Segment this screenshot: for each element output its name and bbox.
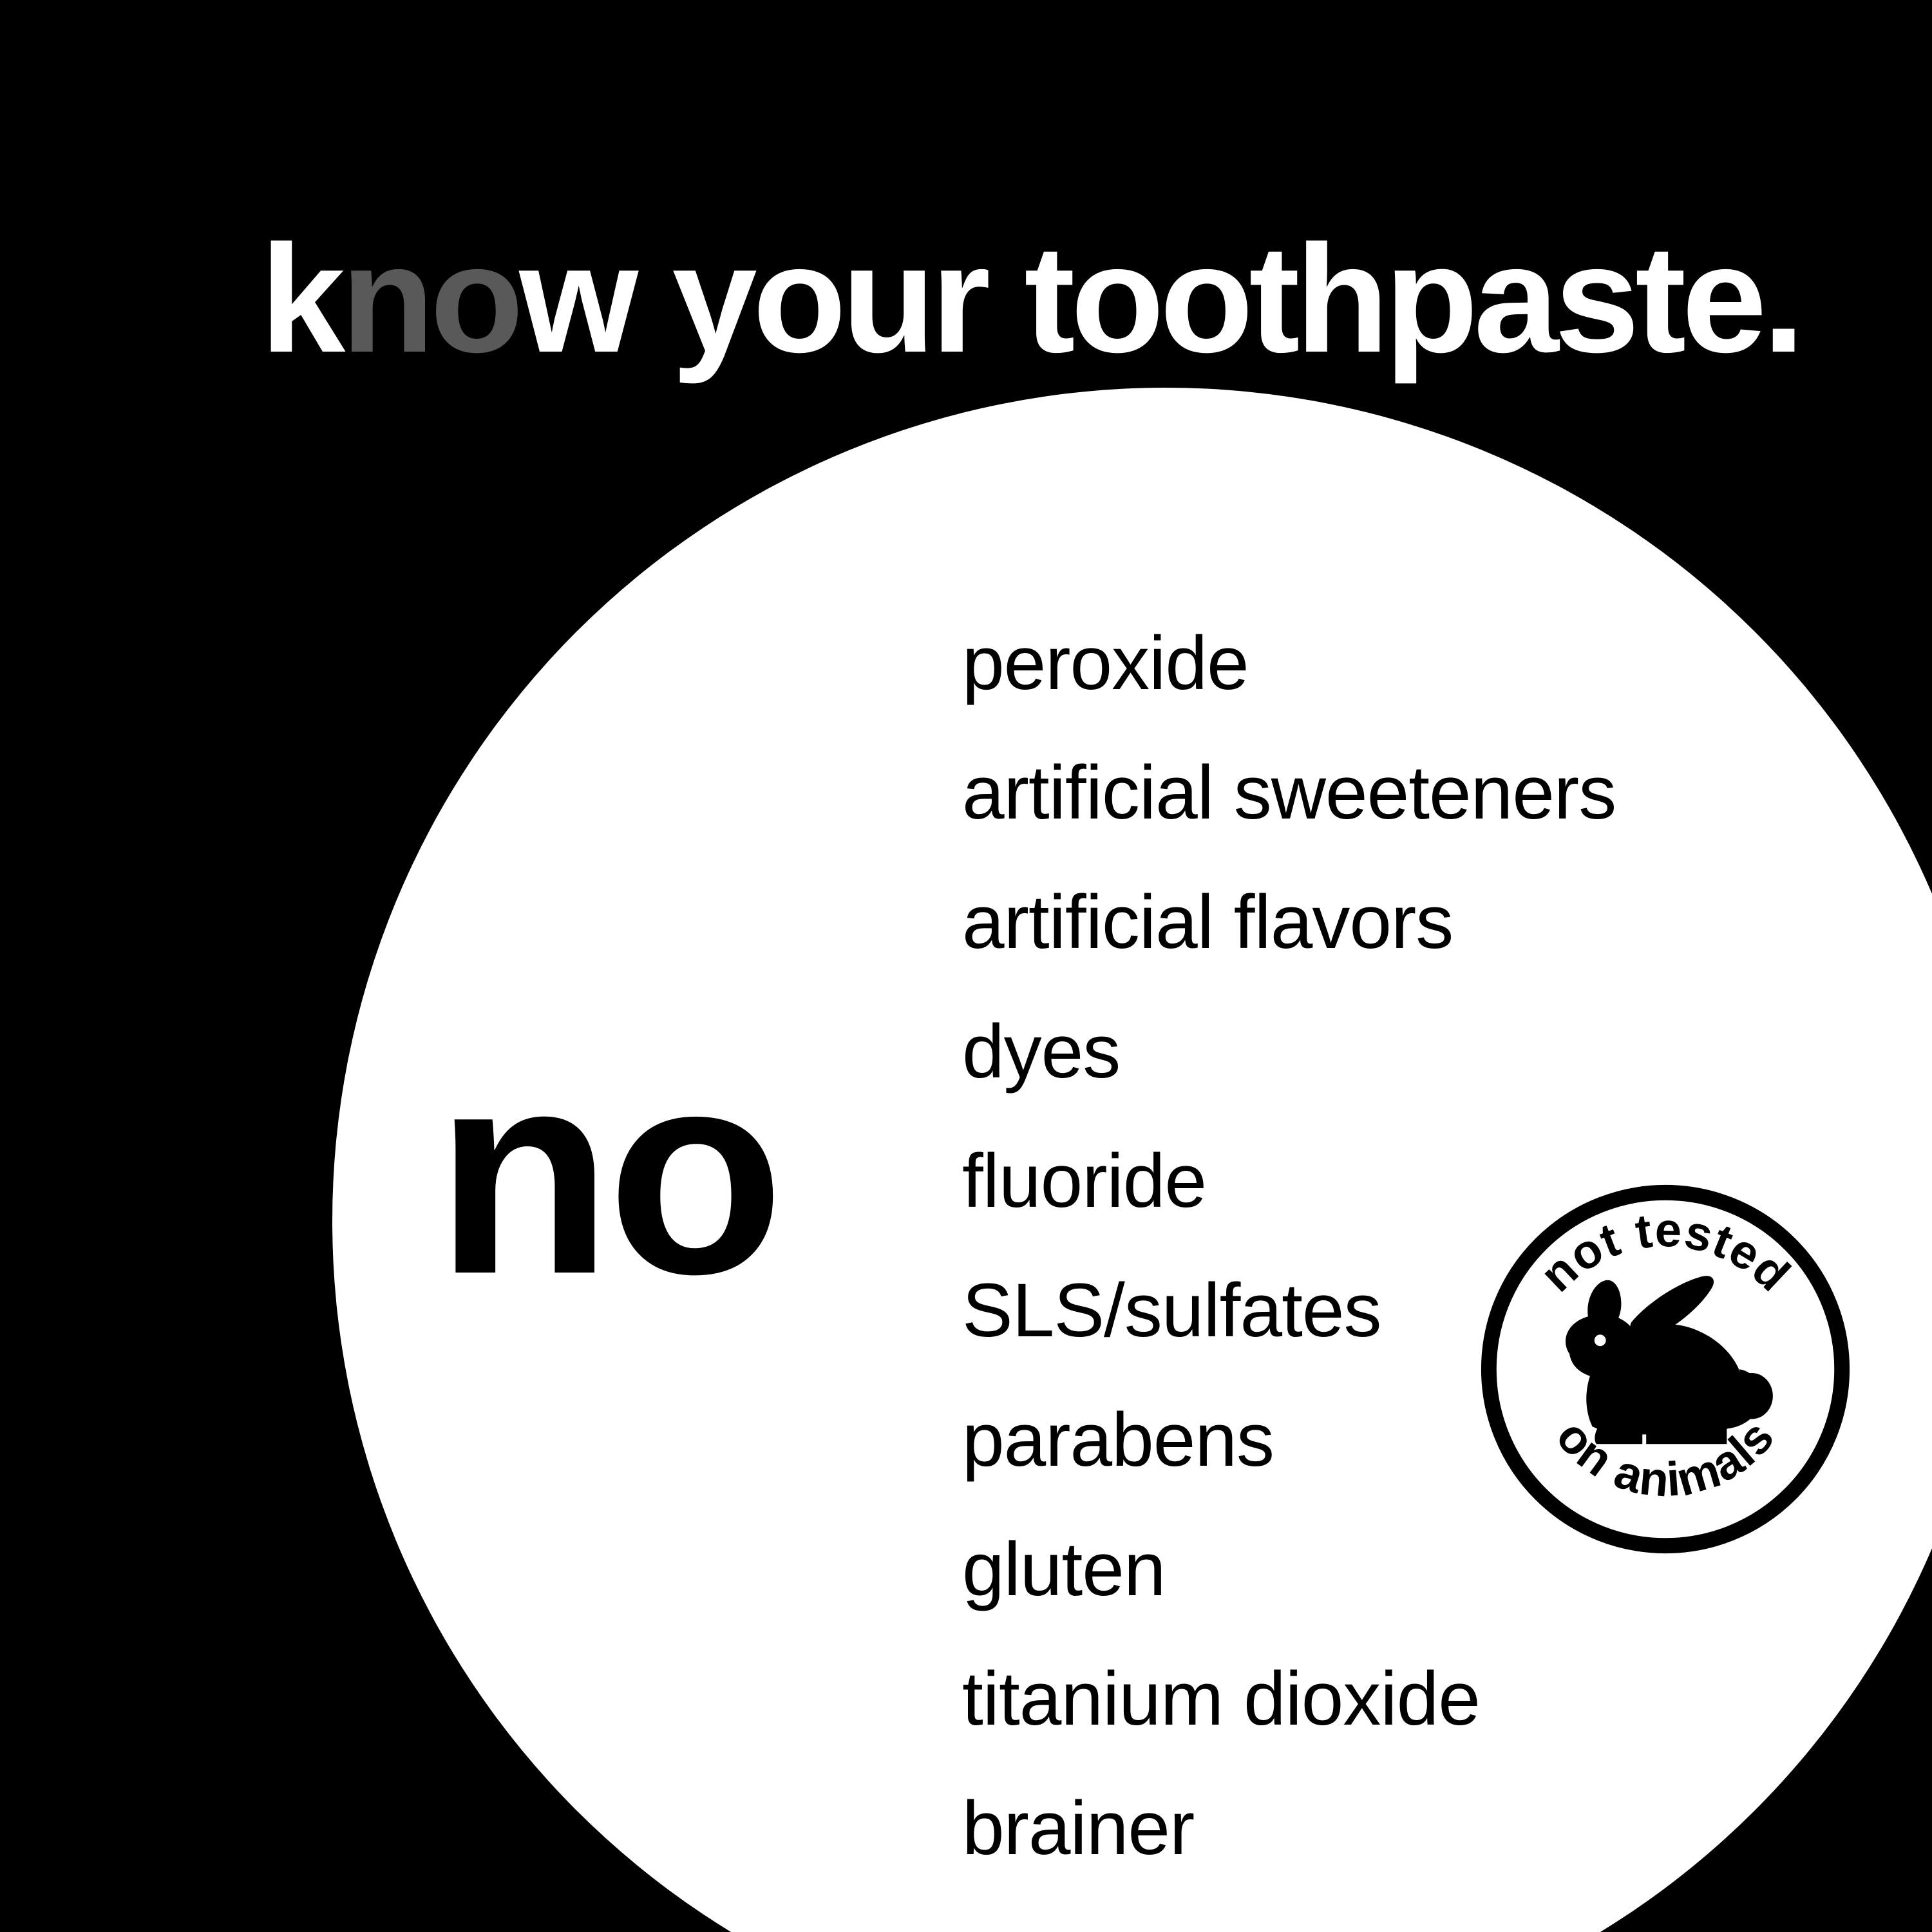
page-title: know your toothpaste. [260, 216, 1741, 383]
list-item: peroxide [962, 599, 1799, 728]
list-item: dyes [962, 987, 1799, 1117]
list-item: artificial flavors [962, 858, 1799, 987]
list-item: artificial sweeteners [962, 728, 1799, 858]
cruelty-free-badge: not tested on animals [1473, 1177, 1857, 1561]
list-item: brainer [962, 1764, 1799, 1893]
poster-canvas: know your toothpaste. no peroxide artifi… [0, 0, 1932, 1932]
headline-lead-letter: k [260, 214, 341, 384]
rabbit-icon [1566, 1276, 1773, 1444]
headline-rest: w your toothpaste. [519, 214, 1801, 384]
no-callout: no [435, 1028, 925, 1350]
list-item: titanium dioxide [962, 1634, 1799, 1764]
headline-gray-segment: no [341, 214, 519, 384]
